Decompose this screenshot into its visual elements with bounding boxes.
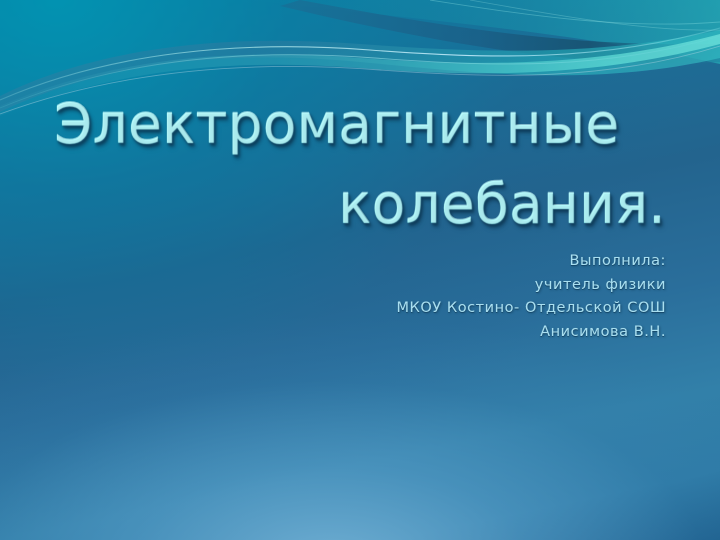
title-line-2: колебания. bbox=[54, 164, 666, 244]
presentation-slide: Электромагнитные колебания. Выполнила: у… bbox=[0, 0, 720, 540]
slide-title: Электромагнитные колебания. bbox=[54, 84, 666, 244]
subtitle-line-author-label: Выполнила: bbox=[300, 250, 666, 274]
title-line-1: Электромагнитные bbox=[54, 84, 666, 164]
subtitle-line-school: МКОУ Костино- Отдельской СОШ bbox=[300, 297, 666, 321]
subtitle-line-role: учитель физики bbox=[300, 274, 666, 298]
subtitle-line-author-name: Анисимова В.Н. bbox=[300, 321, 666, 345]
slide-canvas: Электромагнитные колебания. Выполнила: у… bbox=[0, 0, 720, 540]
slide-subtitle: Выполнила: учитель физики МКОУ Костино- … bbox=[300, 250, 666, 344]
